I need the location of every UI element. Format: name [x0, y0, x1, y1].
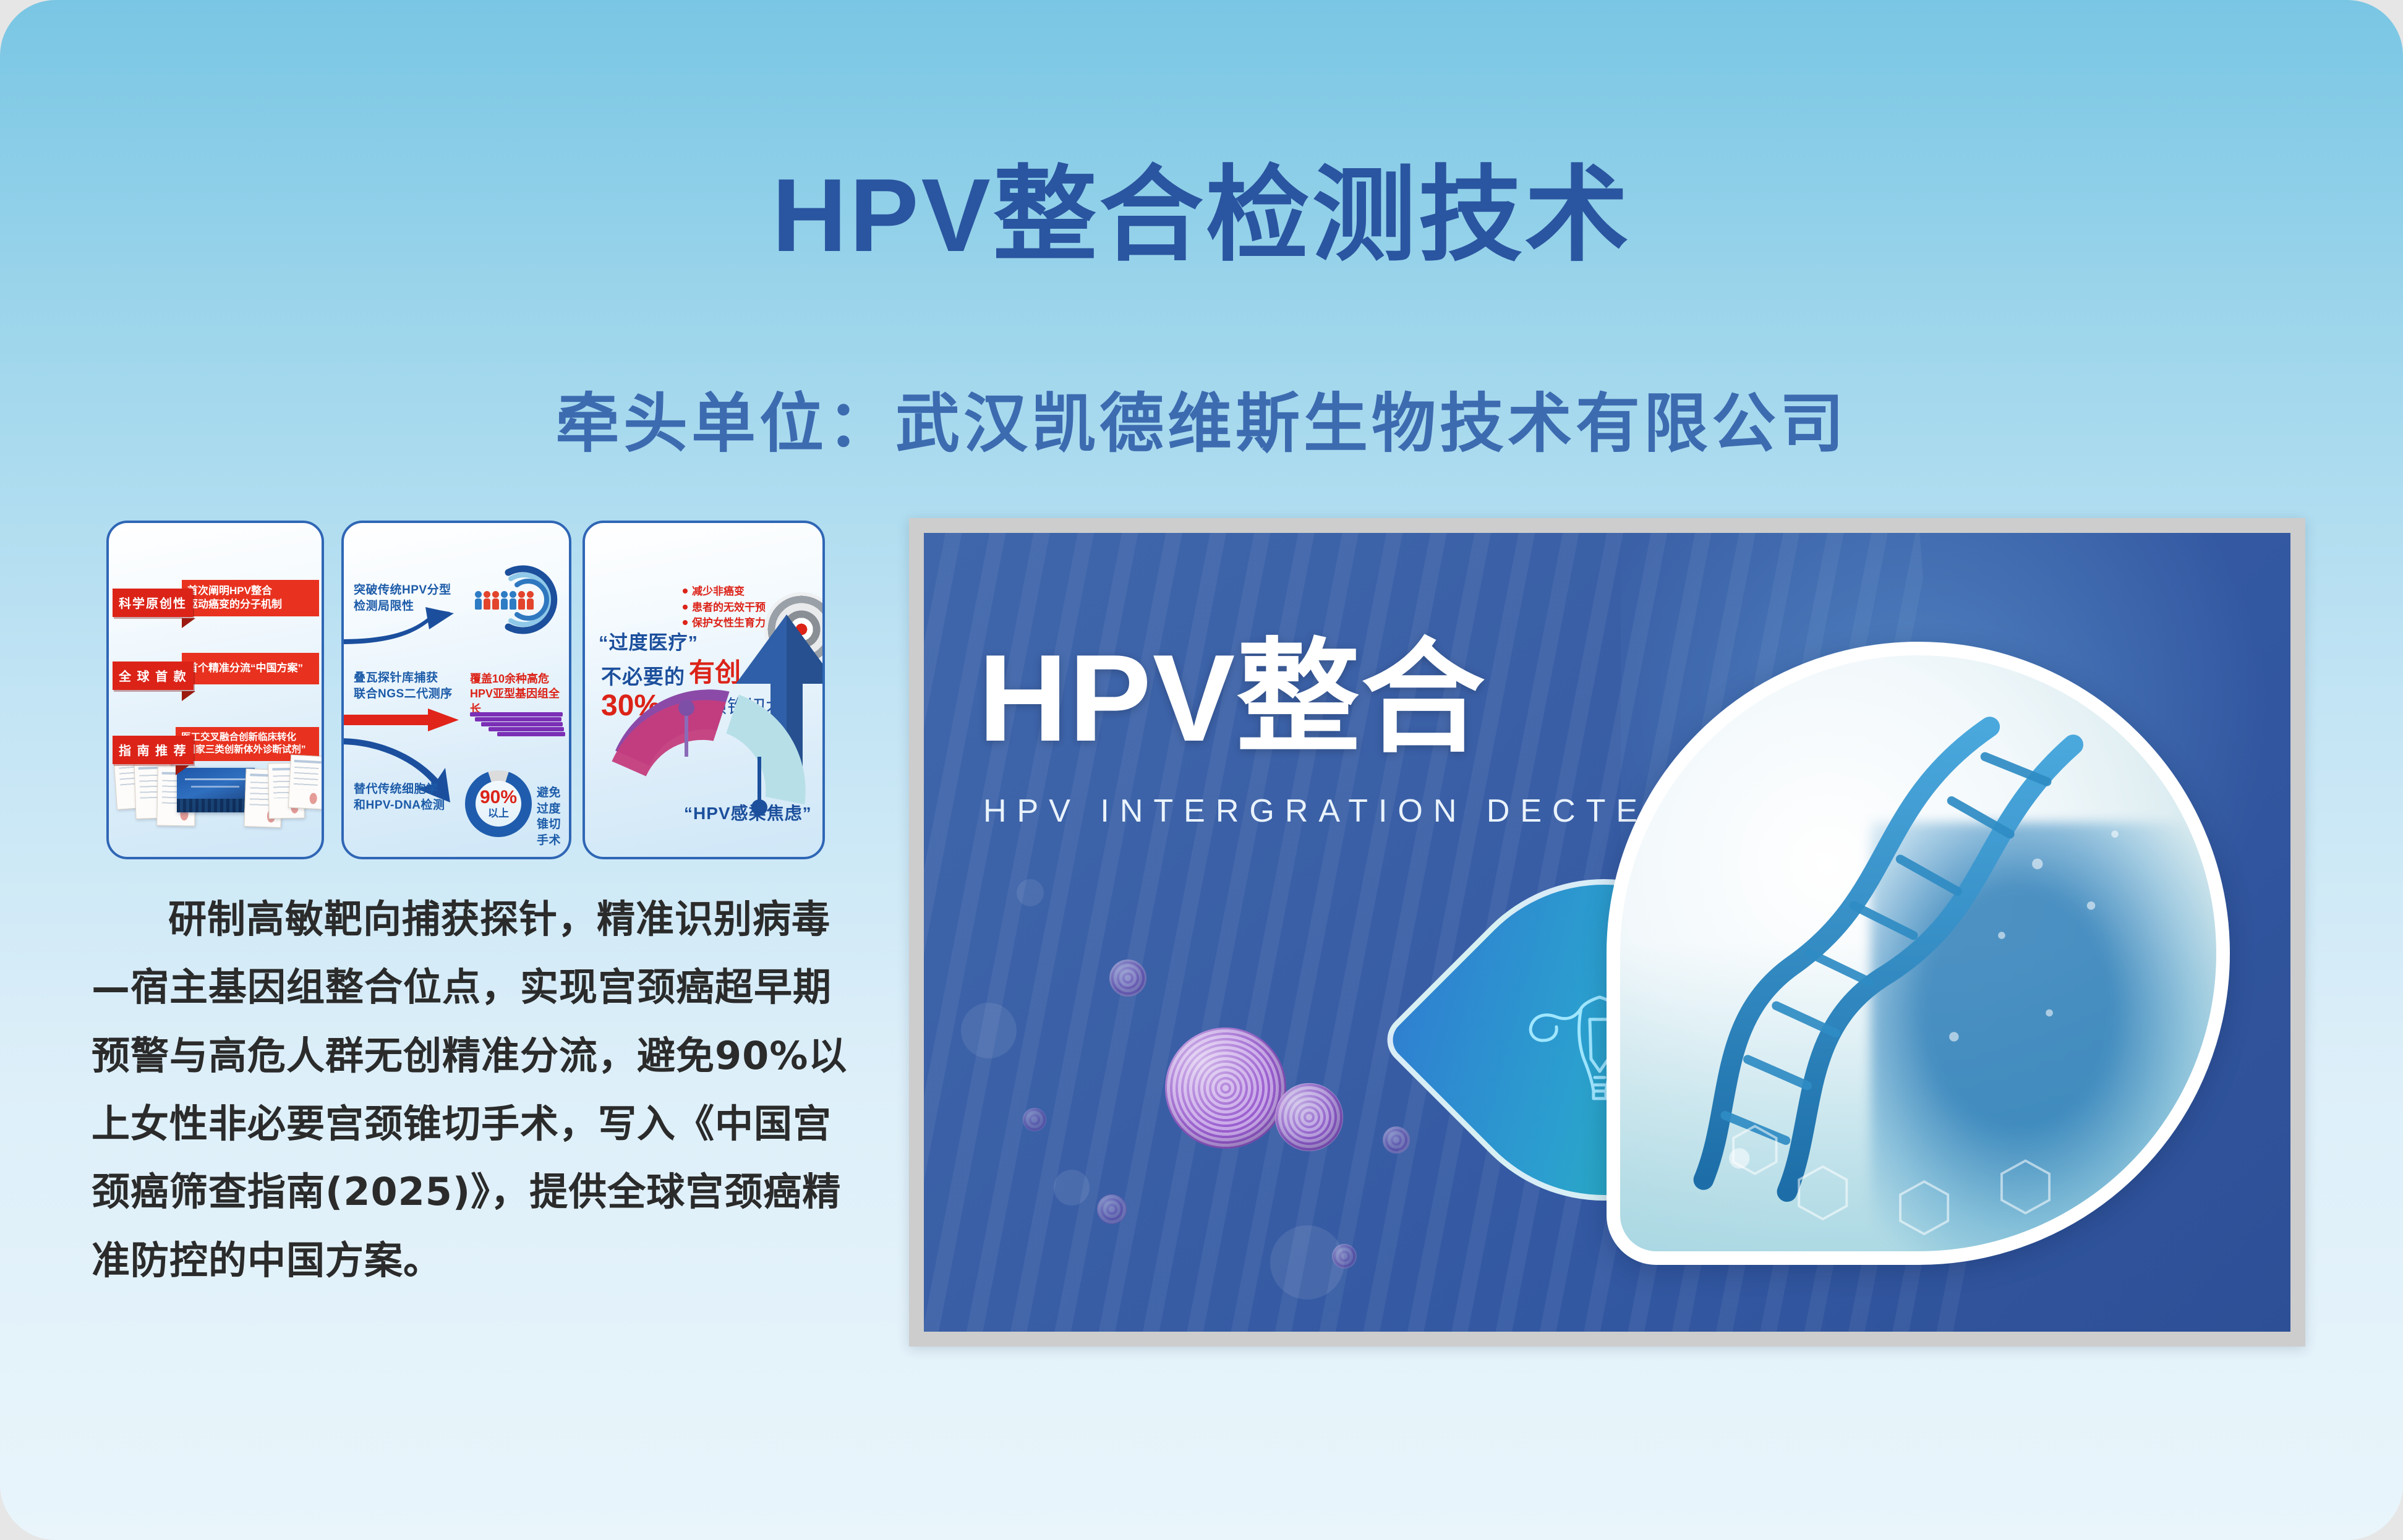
- tech-row-2-highlight: 覆盖10余种高危 HPV亚型基因组全长: [470, 671, 569, 717]
- banner-body-2: 首个精准分流“中国方案”: [182, 653, 319, 684]
- donut-icon: 90% 以上: [465, 770, 532, 837]
- donut-value: 90%: [480, 788, 517, 807]
- dna-helix-icon: [1607, 642, 2230, 1265]
- hero-title: HPV整合: [978, 637, 1486, 760]
- donut-suffix: 以上: [488, 808, 509, 820]
- arrow-up-right-icon-1: [341, 608, 458, 657]
- hpv-virus-icon: [1023, 1108, 1046, 1131]
- info-cards-row: 首次阐明HPV整合 驱动癌变的分子机制 科学原创性 首个精准分流“中国方案” 全…: [106, 521, 848, 859]
- overtreatment-quote: “过度医疗”: [599, 627, 698, 655]
- banner-tag-1: 科学原创性: [113, 589, 193, 617]
- page-title: HPV整合检测技术: [0, 160, 2403, 271]
- hpv-virus-icon: [1383, 1126, 1410, 1154]
- tech-row-2-label: 叠瓦探针库捕获 联合NGS二代测序: [354, 670, 453, 702]
- tech-row-3-highlight: 避免过度 锥切手术: [537, 785, 569, 849]
- description-paragraph: 研制高敏靶向捕获探针，精准识别病毒—宿主基因组整合位点，实现宫颈癌超早期预警与高…: [92, 885, 864, 1295]
- page-subtitle: 牵头单位：武汉凯德维斯生物技术有限公司: [0, 371, 2403, 464]
- unnecessary-label: 不必要的: [601, 660, 685, 690]
- banner-notch-1: [182, 618, 195, 628]
- banner-tag-2: 全 球 首 款: [113, 662, 194, 690]
- banner-row-2: 首个精准分流“中国方案” 全 球 首 款: [109, 653, 322, 691]
- overtreatment-card[interactable]: 减少非癌变 患者的无效干预 保护女性生育力 “过度医疗” 不必要的 30% 有创…: [583, 521, 825, 859]
- achievements-card[interactable]: 首次阐明HPV整合 驱动癌变的分子机制 科学原创性 首个精准分流“中国方案” 全…: [106, 521, 324, 859]
- arrow-right-icon-red: [341, 708, 461, 733]
- hpv-virus-icon: [1109, 959, 1146, 997]
- hero-image-frame: HPV整合 HPV INTERGRATION DECTECTION: [909, 518, 2305, 1346]
- banner-body-1: 首次阐明HPV整合 驱动癌变的分子机制: [182, 580, 319, 616]
- arc-label: “HPV感染焦虑”: [684, 800, 812, 825]
- swirl-ring-icon: [490, 564, 561, 636]
- hpv-virus-icon: [1165, 1027, 1286, 1149]
- pin-purple-icon: [678, 700, 696, 757]
- certificate-item: [288, 755, 324, 810]
- technology-card[interactable]: 突破传统HPV分型 检测局限性 叠瓦探针库捕获 联合NGS二代测序: [341, 521, 571, 859]
- banner-notch-2: [182, 691, 195, 701]
- banner-tag-3: 指 南 推 荐: [113, 736, 194, 764]
- hpv-virus-icon: [1097, 1194, 1127, 1224]
- stairs-icon: [470, 711, 568, 741]
- poster-canvas: HPV整合检测技术 牵头单位：武汉凯德维斯生物技术有限公司 首次阐明HPV整合 …: [0, 0, 2403, 1540]
- list-item: 减少非癌变: [683, 584, 766, 600]
- banner-row-1: 首次阐明HPV整合 驱动癌变的分子机制 科学原创性: [109, 580, 322, 618]
- banner-notch-3: [176, 765, 189, 775]
- tech-row-3-label: 替代传统细胞学 和HPV-DNA检测: [354, 781, 445, 813]
- hpv-virus-icon: [1332, 1244, 1357, 1269]
- hero-image: HPV整合 HPV INTERGRATION DECTECTION: [924, 533, 2290, 1332]
- dna-strands: [1620, 655, 2216, 1251]
- hpv-virus-icon: [1275, 1083, 1343, 1151]
